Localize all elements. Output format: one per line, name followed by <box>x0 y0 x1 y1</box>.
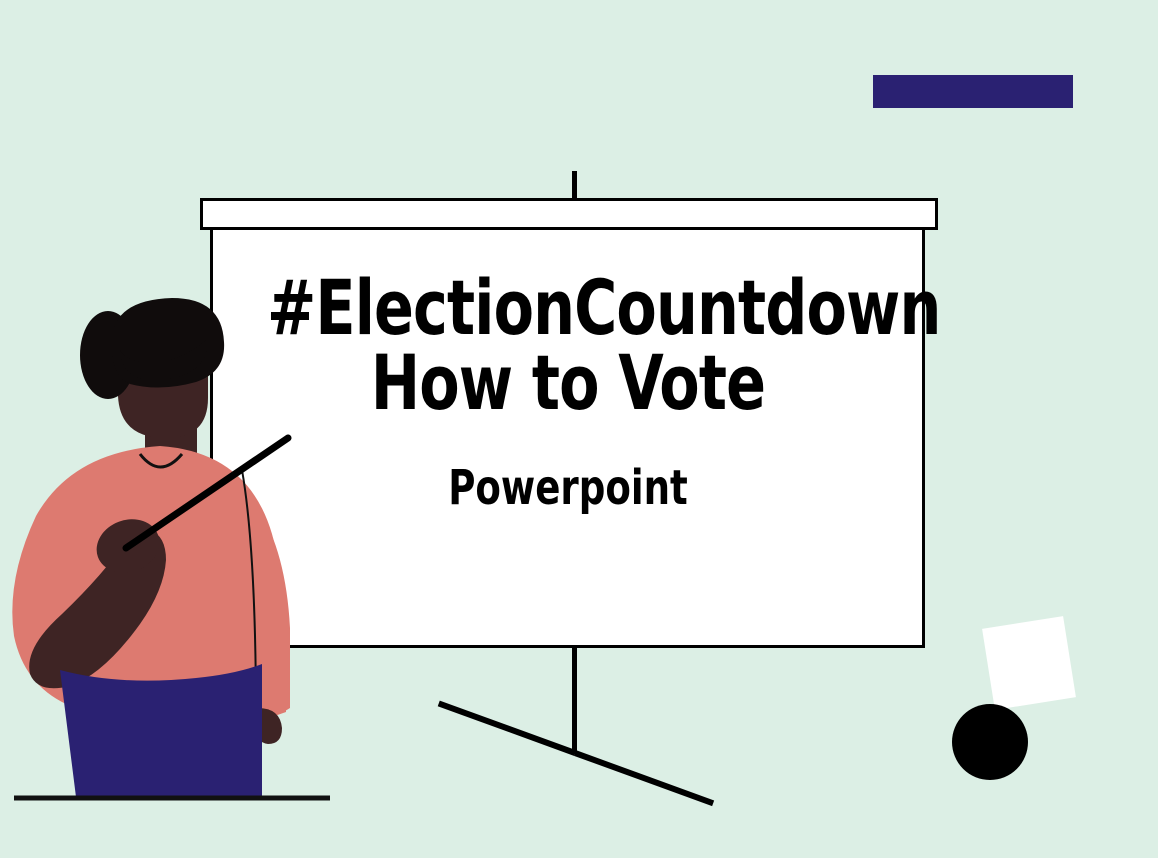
black-circle-accent <box>952 704 1028 780</box>
tripod-leg-right <box>574 750 714 806</box>
projector-screen-case <box>200 198 938 230</box>
screen-roller-nub <box>572 171 577 199</box>
tripod-center-post <box>572 648 577 754</box>
presenter-skirt <box>60 664 262 797</box>
white-square-accent <box>982 616 1076 710</box>
tripod-leg-left <box>438 701 576 756</box>
slide-canvas: #ElectionCountdown How to Vote Powerpoin… <box>0 0 1158 858</box>
navy-accent-bar <box>873 75 1073 108</box>
presenter-illustration <box>0 280 360 820</box>
